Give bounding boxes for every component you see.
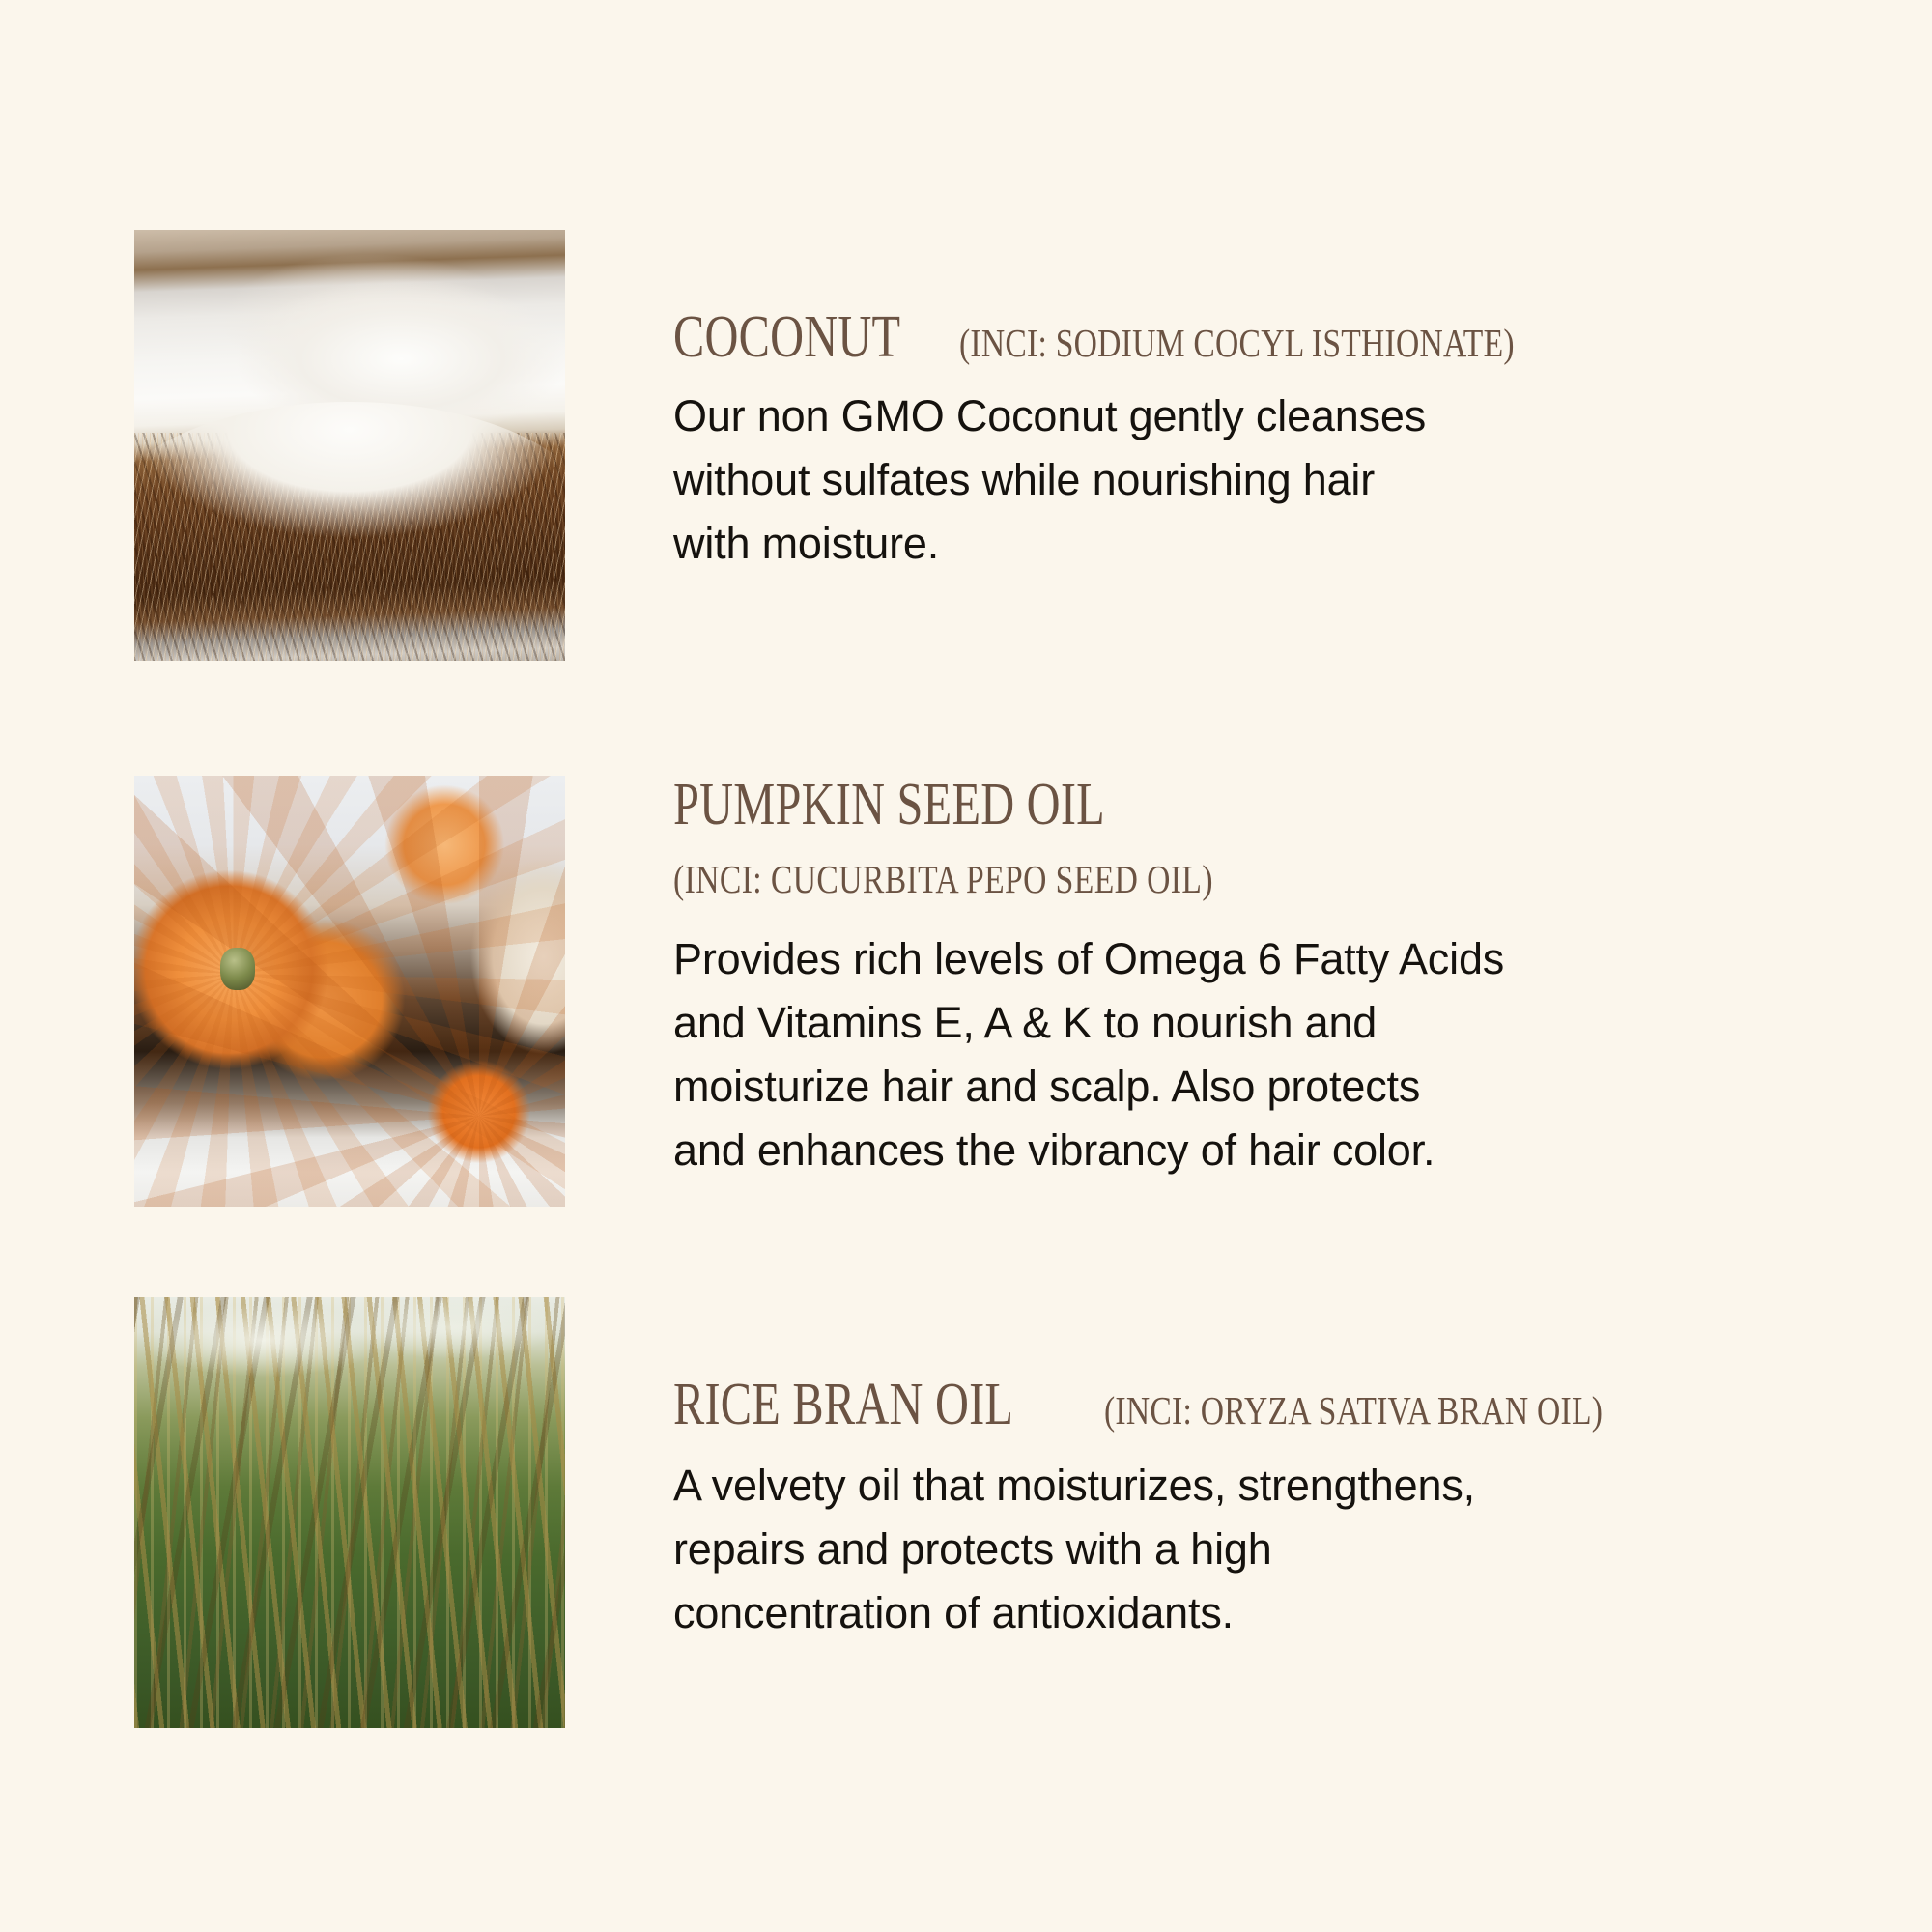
rice-title: RICE BRAN OIL [673,1375,1013,1435]
rice-description-line: repairs and protects with a high [673,1518,1712,1581]
coconut-description: Our non GMO Coconut gently cleanses with… [673,384,1636,576]
ingredients-infographic: COCONUT(INCI: SODIUM COCYL ISTHIONATE) O… [0,0,1932,1932]
pumpkin-inci-row: (INCI: CUCURBITA PEPO SEED OIL) [673,856,1504,902]
pumpkin-description-line: moisturize hair and scalp. Also protects [673,1055,1504,1119]
pumpkin-text-column: PUMPKIN SEED OIL (INCI: CUCURBITA PEPO S… [673,775,1504,1183]
rice-image [134,1297,565,1728]
pumpkin-description-line: and Vitamins E, A & K to nourish and [673,991,1504,1055]
pumpkin-description-line: and enhances the vibrancy of hair color. [673,1119,1504,1182]
coconut-description-line: Our non GMO Coconut gently cleanses [673,384,1636,448]
coconut-title: COCONUT [673,307,900,367]
rice-description: A velvety oil that moisturizes, strength… [673,1454,1712,1645]
rice-text-column: RICE BRAN OIL(INCI: ORYZA SATIVA BRAN OI… [673,1375,1712,1645]
pumpkin-heading: PUMPKIN SEED OIL [673,775,1504,835]
rice-description-line: concentration of antioxidants. [673,1581,1712,1645]
pumpkin-image [134,776,565,1207]
coconut-inci: (INCI: SODIUM COCYL ISTHIONATE) [959,324,1515,363]
coconut-image [134,230,565,661]
rice-inci: (INCI: ORYZA SATIVA BRAN OIL) [1104,1391,1603,1431]
coconut-description-line: with moisture. [673,512,1636,576]
coconut-description-line: without sulfates while nourishing hair [673,448,1636,512]
rice-heading: RICE BRAN OIL(INCI: ORYZA SATIVA BRAN OI… [673,1375,1712,1435]
pumpkin-description-line: Provides rich levels of Omega 6 Fatty Ac… [673,927,1504,991]
pumpkin-description: Provides rich levels of Omega 6 Fatty Ac… [673,927,1504,1183]
pumpkin-title: PUMPKIN SEED OIL [673,775,1105,835]
coconut-text-column: COCONUT(INCI: SODIUM COCYL ISTHIONATE) O… [673,307,1636,576]
coconut-heading: COCONUT(INCI: SODIUM COCYL ISTHIONATE) [673,307,1636,367]
pumpkin-inci: (INCI: CUCURBITA PEPO SEED OIL) [673,856,1213,902]
rice-description-line: A velvety oil that moisturizes, strength… [673,1454,1712,1518]
